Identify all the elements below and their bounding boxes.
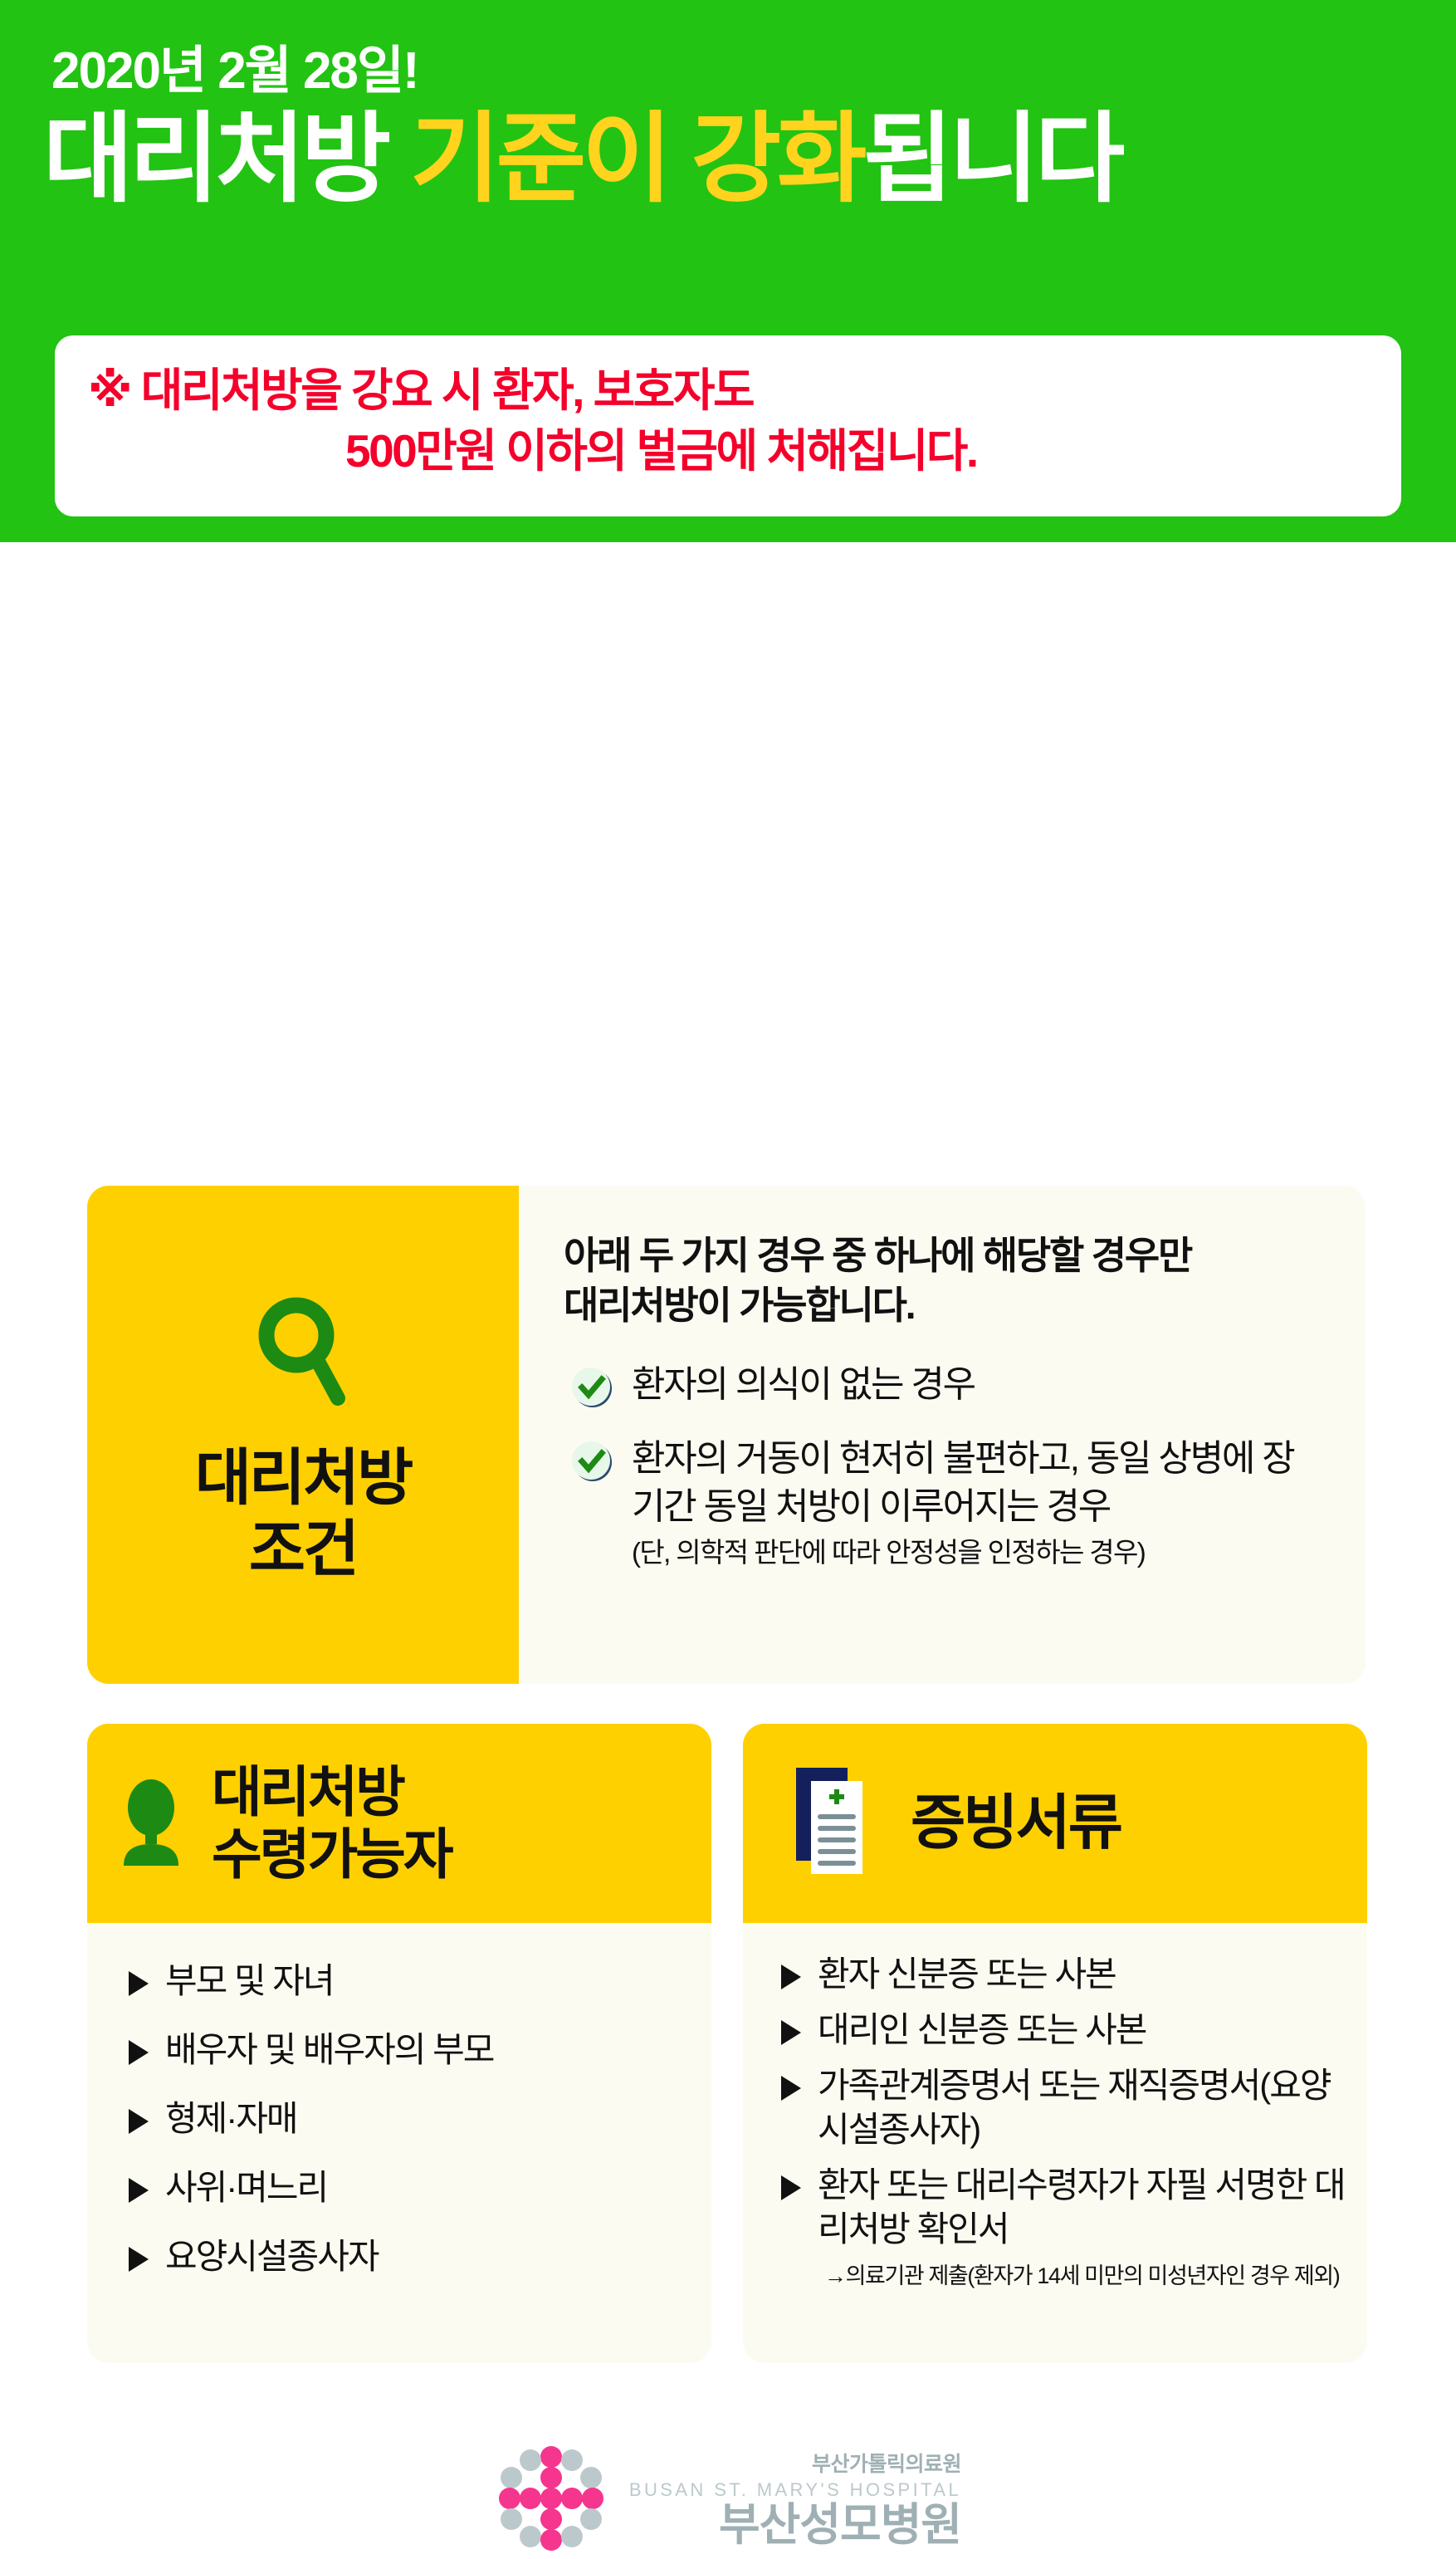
warning-line-2: 500만원 이하의 벌금에 처해집니다. [88,421,1368,482]
hospital-logo: 부산가톨릭의료원 BUSAN ST. MARY'S HOSPITAL 부산성모병… [0,2442,1456,2559]
lead-line-1: 아래 두 가지 경우 중 하나에 해당할 경우만 [564,1234,1191,1277]
condition-item-text: 환자의 의식이 없는 경우 [632,1361,975,1410]
list-item: 사위·며느리 [129,2166,683,2210]
list-item-label: 요양시설종사자 [165,2235,378,2279]
list-item-label: 대리인 신분증 또는 사본 [818,2009,1146,2053]
header-date: 2020년 2월 28일! [51,43,1456,100]
card-documents-title: 증빙서류 [911,1789,1121,1857]
list-item: 배우자 및 배우자의 부모 [129,2028,683,2072]
card-documents-header: 증빙서류 [743,1724,1367,1923]
condition-item: 환자의 거동이 현저히 불편하고, 동일 상병에 장기간 동일 처방이 이루어지… [564,1435,1324,1571]
card-conditions-title-line2: 조건 [195,1514,411,1585]
logo-korean-main: 부산성모병원 [629,2503,961,2547]
lead-line-2: 대리처방이 가능합니다. [564,1284,914,1327]
logo-korean-top: 부산가톨릭의료원 [629,2454,961,2475]
list-item-label: 환자 또는 대리수령자가 자필 서명한 대리처방 확인서 [818,2164,1346,2252]
list-item: 부모 및 자녀 [129,1960,683,2004]
triangle-bullet-icon [129,2178,149,2203]
document-icon [791,1764,881,1883]
card-recipients-list: 부모 및 자녀 배우자 및 배우자의 부모 형제·자매 사위·며느리 요양시설종… [87,1923,711,2279]
card-conditions-title-line1: 대리처방 [195,1442,411,1514]
card-prescription-conditions: 대리처방 조건 아래 두 가지 경우 중 하나에 해당할 경우만 대리처방이 가… [87,1186,1366,1684]
card-documents-list: 환자 신분증 또는 사본 대리인 신분증 또는 사본 가족관계증명서 또는 재직… [743,1923,1367,2290]
card-required-documents: 증빙서류 환자 신분증 또는 사본 대리인 신분증 또는 사본 가족관계증명서 … [743,1724,1367,2363]
page-title: 대리처방 기준이 강화됩니다 [43,105,1456,214]
hospital-dot-cross-logo-icon [495,2442,608,2559]
magnifier-icon [253,1294,353,1414]
list-item: 대리인 신분증 또는 사본 [781,2009,1346,2053]
list-item: 환자 또는 대리수령자가 자필 서명한 대리처방 확인서 [781,2164,1346,2252]
card-conditions-lead: 아래 두 가지 경우 중 하나에 해당할 경우만 대리처방이 가능합니다. [564,1231,1324,1331]
triangle-bullet-icon [129,1971,149,1996]
card-conditions-content: 아래 두 가지 경우 중 하나에 해당할 경우만 대리처방이 가능합니다. 환자… [519,1186,1366,1684]
logo-english: BUSAN ST. MARY'S HOSPITAL [629,2481,961,2499]
list-item: 형제·자매 [129,2097,683,2141]
condition-item-text: 환자의 거동이 현저히 불편하고, 동일 상병에 장기간 동일 처방이 이루어지… [632,1435,1324,1571]
triangle-bullet-icon [781,2175,801,2200]
title-part-3: 됩니다 [863,105,1121,214]
warning-box: ※ 대리처방을 강요 시 환자, 보호자도 500만원 이하의 벌금에 처해집니… [55,335,1401,516]
hospital-logo-text: 부산가톨릭의료원 BUSAN ST. MARY'S HOSPITAL 부산성모병… [629,2454,961,2547]
card-eligible-recipients: 대리처방 수령가능자 부모 및 자녀 배우자 및 배우자의 부모 형제·자매 사… [87,1724,711,2363]
triangle-bullet-icon [781,1965,801,1989]
list-item-label: 환자 신분증 또는 사본 [818,1953,1116,1997]
list-item-label: 가족관계증명서 또는 재직증명서(요양시설종사자) [818,2064,1346,2152]
list-item: 가족관계증명서 또는 재직증명서(요양시설종사자) [781,2064,1346,2152]
card-recipients-title-line1: 대리처방 [212,1761,452,1823]
check-circle-icon [570,1440,613,1487]
list-item: 환자 신분증 또는 사본 [781,1953,1346,1997]
documents-footnote: →의료기관 제출(환자가 14세 미만의 미성년자인 경우 제외) [824,2263,1346,2289]
condition-item: 환자의 의식이 없는 경우 [564,1361,1324,1413]
person-icon [115,1776,187,1872]
triangle-bullet-icon [129,2109,149,2134]
list-item-label: 부모 및 자녀 [165,1960,334,2004]
card-conditions-header: 대리처방 조건 [87,1186,519,1684]
title-part-2: 기준이 강화 [410,105,863,214]
triangle-bullet-icon [781,2076,801,2101]
card-recipients-title-line2: 수령가능자 [212,1823,452,1886]
card-conditions-title: 대리처방 조건 [195,1442,411,1585]
triangle-bullet-icon [781,2020,801,2045]
triangle-bullet-icon [129,2040,149,2065]
card-recipients-header: 대리처방 수령가능자 [87,1724,711,1923]
triangle-bullet-icon [129,2247,149,2272]
list-item-label: 사위·며느리 [165,2166,327,2210]
list-item: 요양시설종사자 [129,2235,683,2279]
list-item-label: 배우자 및 배우자의 부모 [165,2028,493,2072]
warning-line-1: ※ 대리처방을 강요 시 환자, 보호자도 [88,360,1368,421]
card-recipients-title: 대리처방 수령가능자 [212,1761,452,1886]
condition-item-main: 환자의 거동이 현저히 불편하고, 동일 상병에 장기간 동일 처방이 이루어지… [632,1438,1294,1528]
poster-header: 2020년 2월 28일! 대리처방 기준이 강화됩니다 ※ 대리처방을 강요 … [0,0,1456,542]
title-part-1: 대리처방 [43,105,410,214]
list-item-label: 형제·자매 [165,2097,297,2141]
condition-item-note: (단, 의학적 판단에 따라 안정성을 인정하는 경우) [632,1535,1324,1571]
check-circle-icon [570,1366,613,1413]
